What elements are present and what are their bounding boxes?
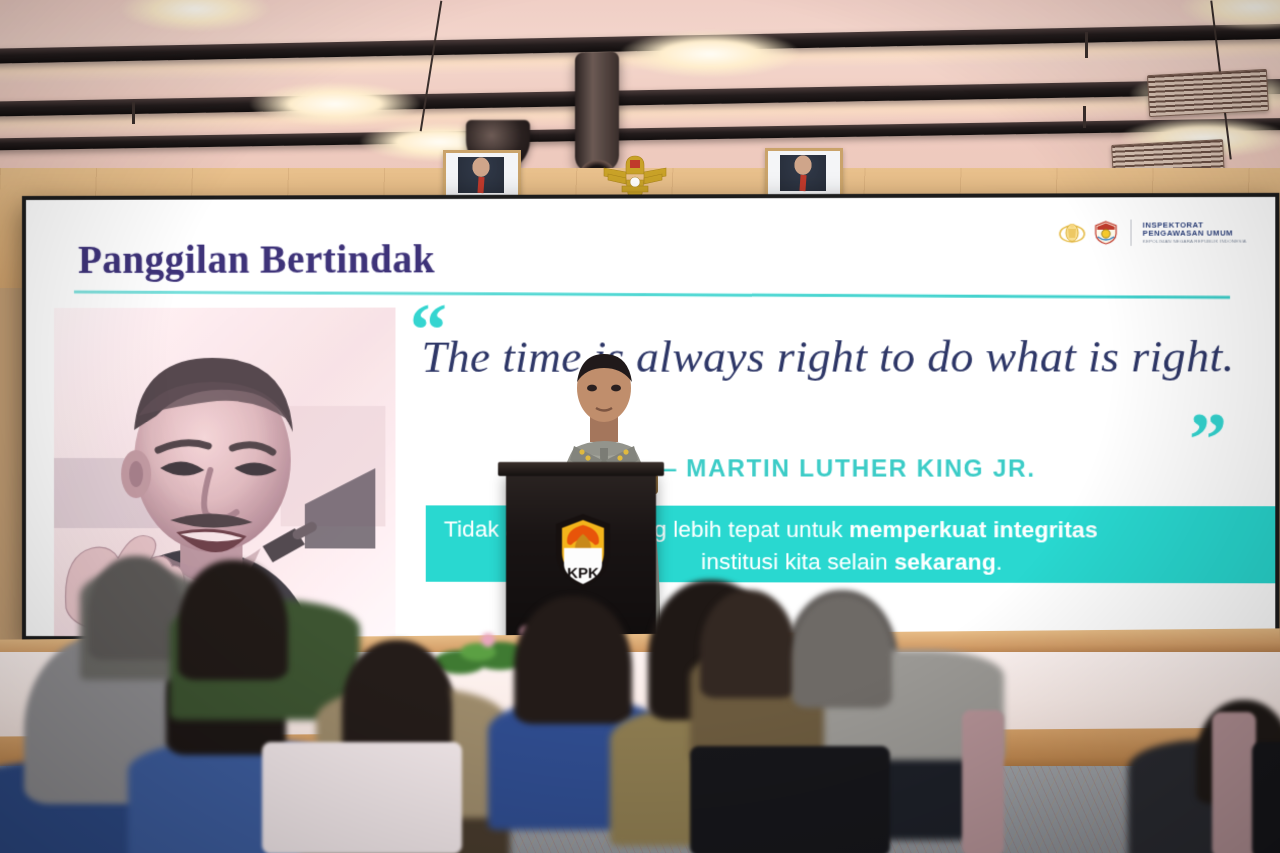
- callout-l2-suffix: .: [996, 549, 1002, 574]
- air-vent-icon: [1147, 69, 1269, 117]
- hanging-wire: [132, 102, 135, 124]
- ceiling-light-icon: [620, 30, 800, 78]
- chair-back: [690, 746, 890, 853]
- conference-room-photo: Panggilan Bertindak INSPEK: [0, 0, 1280, 853]
- hanging-wire: [1083, 106, 1086, 128]
- brand-line-2: PENGAWASAN UMUM: [1143, 229, 1247, 238]
- chair-back: [962, 710, 1004, 853]
- hanging-wire: [1085, 32, 1088, 58]
- chair-back: [262, 742, 462, 853]
- kpk-logo: KPK: [552, 512, 614, 590]
- callout-l1-bold: memperkuat integritas: [849, 517, 1098, 543]
- attendee-head: [700, 590, 796, 698]
- ceiling: [0, 0, 1280, 172]
- brand-line-3: KEPOLISIAN NEGARA REPUBLIK INDONESIA: [1143, 239, 1247, 244]
- ceiling-light-icon: [120, 0, 270, 32]
- chair-back: [1212, 712, 1256, 853]
- attendee-head: [792, 596, 892, 708]
- brand-divider: [1130, 220, 1131, 246]
- attendee-head: [514, 596, 632, 724]
- attendee-head: [178, 560, 288, 680]
- ceiling-light-icon: [250, 82, 420, 126]
- itwasum-shield-emblem: [1092, 220, 1119, 246]
- title-divider: [74, 290, 1230, 298]
- polri-tribrata-emblem: [1059, 220, 1086, 246]
- callout-l2-bold: sekarang: [894, 549, 996, 574]
- chair-back: [1252, 742, 1280, 853]
- slide-title: Panggilan Bertindak: [78, 237, 435, 283]
- callout-l2-prefix: institusi kita selain: [701, 549, 894, 575]
- brand-lockup: INSPEKTORAT PENGAWASAN UMUM KEPOLISIAN N…: [1059, 219, 1247, 246]
- svg-text:KPK: KPK: [567, 565, 599, 582]
